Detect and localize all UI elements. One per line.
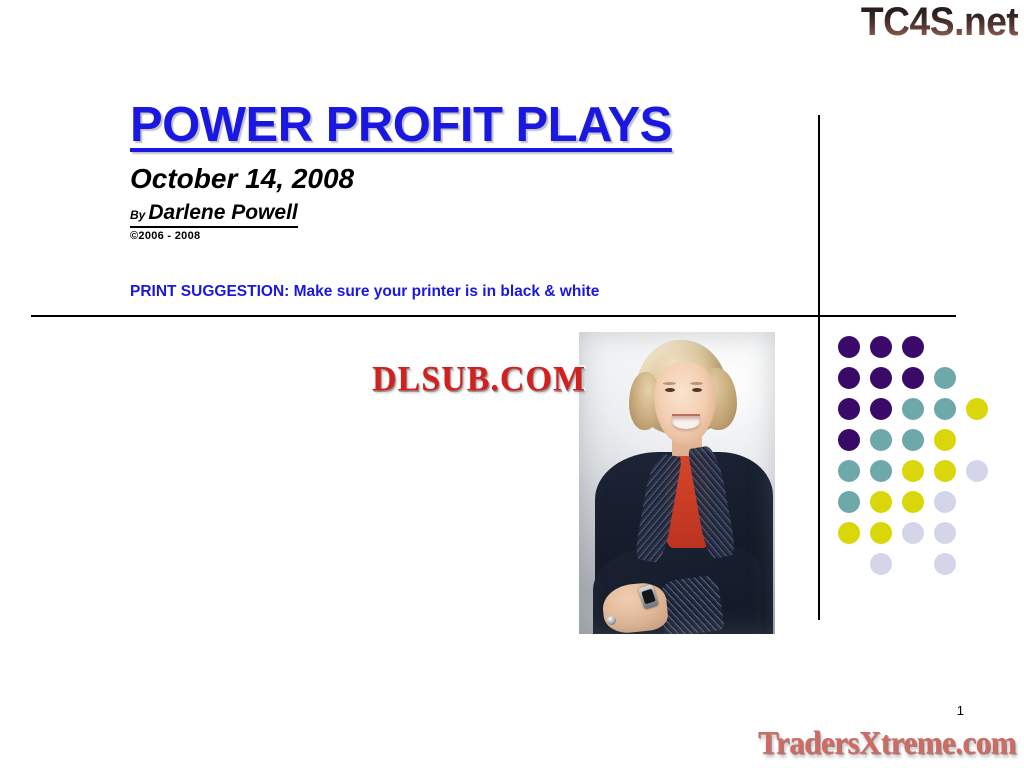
photo-eye-right	[692, 388, 702, 392]
dot-purple	[870, 367, 892, 389]
dot-purple	[902, 367, 924, 389]
dot-purple	[838, 336, 860, 358]
dot-yellow	[838, 522, 860, 544]
dot-lavender	[966, 460, 988, 482]
dot-purple	[902, 336, 924, 358]
dot-teal	[838, 460, 860, 482]
dot-purple	[838, 429, 860, 451]
copyright-notice: ©2006 - 2008	[130, 230, 790, 242]
title-block: POWER PROFIT PLAYS October 14, 2008 ByDa…	[130, 100, 790, 242]
dot-teal	[934, 398, 956, 420]
dot-purple	[870, 336, 892, 358]
author-portrait-photo	[579, 332, 775, 634]
tc4s-brand-logo: TC4S.net	[860, 2, 1018, 42]
dot-purple	[838, 398, 860, 420]
dot-yellow	[902, 491, 924, 513]
photo-eye-left	[665, 388, 675, 392]
dot-purple	[870, 398, 892, 420]
presentation-date: October 14, 2008	[130, 163, 790, 195]
tradersxtreme-brand-logo: TradersXtreme.com	[758, 725, 1016, 762]
decorative-dot-grid	[838, 336, 1003, 586]
dot-teal	[934, 367, 956, 389]
dlsub-watermark: DLSUB.COM	[372, 360, 586, 400]
photo-smile	[672, 414, 700, 429]
vertical-divider	[818, 115, 820, 620]
byline: ByDarlene Powell	[130, 201, 298, 228]
photo-ring	[607, 616, 616, 625]
dot-teal	[870, 460, 892, 482]
photo-eyebrow-right	[690, 382, 703, 385]
dot-teal	[870, 429, 892, 451]
dot-lavender	[934, 522, 956, 544]
dot-teal	[902, 398, 924, 420]
print-suggestion-notice: PRINT SUGGESTION: Make sure your printer…	[130, 283, 599, 301]
dot-yellow	[870, 491, 892, 513]
dot-teal	[902, 429, 924, 451]
byline-prefix: By	[130, 208, 145, 222]
dot-yellow	[870, 522, 892, 544]
dot-yellow	[934, 429, 956, 451]
page-title: POWER PROFIT PLAYS	[130, 100, 790, 151]
page-number: 1	[957, 703, 964, 718]
dot-purple	[838, 367, 860, 389]
dot-teal	[838, 491, 860, 513]
author-name: Darlene Powell	[148, 201, 297, 224]
dot-lavender	[870, 553, 892, 575]
dot-yellow	[902, 460, 924, 482]
photo-sleeve-cuff	[657, 574, 724, 634]
photo-eyebrow-left	[663, 382, 676, 385]
dot-lavender	[934, 491, 956, 513]
dot-lavender	[934, 553, 956, 575]
dot-yellow	[966, 398, 988, 420]
dot-yellow	[934, 460, 956, 482]
presentation-slide: TC4S.net POWER PROFIT PLAYS October 14, …	[0, 0, 1024, 768]
dot-lavender	[902, 522, 924, 544]
